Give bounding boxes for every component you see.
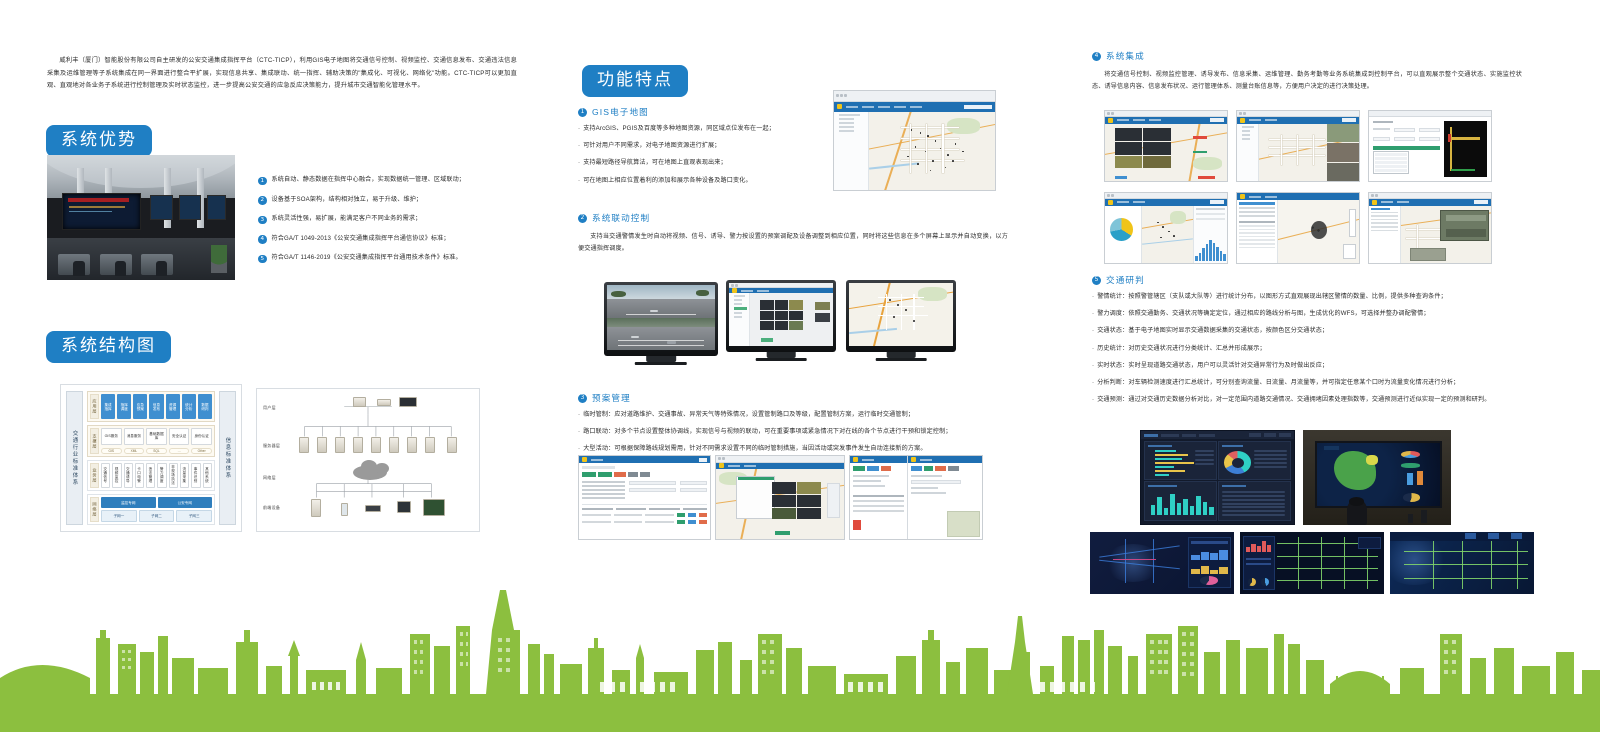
list-text: 符合GA/T 1146-2019《公安交通集成指挥平台通用技术条件》标准。 [272, 254, 462, 262]
feature-title: 系统集成 [1106, 50, 1145, 62]
architecture-layer-diagram: 交通行业标准体系 信息标准体系 应用层 集成指挥指挥调度 应急预案信息发布 资源… [60, 384, 242, 532]
feature-bullet: 分析判断：对车辆检测速度进行汇总统计，可分别查询流量、日流量、月流量等，并可指定… [1092, 379, 1522, 387]
list-number: 3 [258, 216, 267, 225]
feature-number: 1 [578, 108, 587, 117]
list-item: 2 设备基于SOA架构，结构相对独立，易于升级、维护； [258, 196, 520, 205]
dashboard-statistics [1140, 430, 1295, 525]
city-skyline-footer [0, 582, 1600, 732]
section-heading-feature: 功能特点 [583, 66, 687, 96]
monitor-camera-views [604, 282, 718, 356]
screenshot-plan-config [849, 455, 983, 540]
system-advantage-list: 1 系统自动、静态数据在指挥中心融合，实现数据统一管理、区域联动； 2 设备基于… [258, 176, 520, 274]
section-heading-system-architecture: 系统结构图 [47, 332, 170, 362]
feature-bullet: 可在地图上相应位置着利的添加和展示各种设备及路口变化。 [578, 177, 828, 185]
intro-paragraph: 威利丰（厦门）智能股份有限公司自主研发的公安交通集成指挥平台（CTC-TICP）… [47, 55, 517, 93]
feature-title: 交通研判 [1106, 274, 1145, 286]
feature-bullet: 实时状态：实时呈现道路交通状态，用户可以灵活针对交通异常行为及时做出反应； [1092, 362, 1522, 370]
feature-bullet: 警力调度：依照交通勤务、交通状况等确定定位，通过相应的路线分析与图，生成优化的W… [1092, 310, 1522, 318]
feature-paragraph: 将交通信号控制、视频监控管理、诱导发布、信息采集、运维管理、勤务考勤等业务系统集… [1092, 69, 1522, 92]
screenshot-grid-5 [1236, 192, 1360, 264]
control-room-photo [47, 155, 235, 280]
feature-number: 2 [578, 214, 587, 223]
screenshot-grid-3 [1368, 110, 1492, 182]
list-number: 1 [258, 177, 267, 186]
feature-bullet: 历史统计：对历史交通状况进行分类统计、汇总并形成展示； [1092, 345, 1522, 353]
list-text: 符合GA/T 1049-2013《公安交通集成指挥平台通信协议》标准； [272, 235, 450, 243]
feature-section-gis: 1 GIS电子地图 支持ArcGIS、PGIS及百度等多种地图资源，同区域点位发… [578, 106, 828, 194]
feature-bullet: 交通状态：基于电子地图实时显示交通数据采集的交通状态，按颜色区分交通状态； [1092, 327, 1522, 335]
screenshot-grid-1 [1104, 110, 1228, 182]
list-number: 2 [258, 196, 267, 205]
screenshot-plan-list [578, 455, 711, 540]
feature-bullet: 交通预测：通过对交通历史数据分析对比，对一定范围内道路交通情况、交通拥堵因素处理… [1092, 396, 1522, 404]
feature-bullet: 路口联动：对多个节点设置整体协调线，实现信号与视频的联动，可在重要事项或紧急情况… [578, 428, 1008, 436]
list-number: 4 [258, 235, 267, 244]
list-item: 4 符合GA/T 1049-2013《公安交通集成指挥平台通信协议》标准； [258, 235, 520, 244]
architecture-topology-diagram: 用户层 服务器层 网络层 前端设备 [256, 388, 480, 532]
feature-bullet: 可针对用户不同需求，对电子地图资源进行扩展； [578, 142, 828, 150]
nightmap-panel-3 [1390, 532, 1534, 594]
arch-row-application: 应用层 集成指挥指挥调度 应急预案信息发布 资源管理统计分析 数据研判 [87, 391, 215, 422]
feature-number: 5 [1092, 276, 1101, 285]
section-heading-system-advantage: 系统优势 [47, 126, 151, 156]
photo-command-center-wall [1303, 430, 1451, 525]
screenshot-gis-map [833, 90, 996, 191]
feature-title: 预案管理 [592, 392, 631, 404]
arch-left-band: 交通行业标准体系 [66, 391, 83, 525]
screenshot-grid-2 [1236, 110, 1360, 182]
feature-bullet: 支持ArcGIS、PGIS及百度等多种地图资源，同区域点位发布在一起； [578, 125, 828, 133]
screenshot-grid-4 [1104, 192, 1228, 264]
screenshot-plan-map-wall [715, 455, 845, 540]
feature-bullet: 临时管制：应对道路维护、交通事故、异常天气等特殊情况，设置管制路口及等级，配置管… [578, 411, 1008, 419]
topology-label-device-layer: 前端设备 [263, 505, 280, 511]
feature-section-system-integration: 4 系统集成 将交通信号控制、视频监控管理、诱导发布、信息采集、运维管理、勤务考… [1092, 50, 1522, 92]
feature-paragraph: 支持当交通警情发生时自动将视频、信号、诱导、警力按设置的预案调配及设备调整到相应… [578, 231, 1008, 254]
feature-title: GIS电子地图 [592, 106, 649, 118]
feature-number: 4 [1092, 52, 1101, 61]
list-item: 5 符合GA/T 1146-2019《公安交通集成指挥平台通用技术条件》标准。 [258, 254, 520, 263]
topology-label-server-layer: 服务器层 [263, 443, 280, 449]
list-item: 1 系统自动、静态数据在指挥中心融合，实现数据统一管理、区域联动； [258, 176, 520, 185]
list-text: 系统自动、静态数据在指挥中心融合，实现数据统一管理、区域联动； [272, 176, 466, 184]
list-text: 系统灵活性强，易扩展，能满足客户不同业务的需求； [272, 215, 422, 223]
list-item: 3 系统灵活性强，易扩展，能满足客户不同业务的需求； [258, 215, 520, 224]
feature-section-traffic-analysis: 5 交通研判 警情统计：按照警管辖区（支队或大队等）进行统计分布，以图形方式直观… [1092, 274, 1522, 414]
topology-label-user-layer: 用户层 [263, 405, 276, 411]
monitor-video-wall-control [726, 280, 836, 352]
arch-row-network: 网络层 监控专网公安专网 子网一子网二子网三 [87, 494, 215, 525]
topology-label-network-layer: 网络层 [263, 475, 276, 481]
arch-row-service: 业务层 交通信号视频监控 交通诱导卡口电警 违法管理警力调度 非现场执法流量采集… [87, 460, 215, 491]
feature-title: 系统联动控制 [592, 212, 650, 224]
feature-section-plan-management: 3 预案管理 临时管制：应对道路维护、交通事故、异常天气等特殊情况，设置管制路口… [578, 392, 1008, 463]
feature-bullet: 大型活动：可根据保障路线规划需用，针对不同需求设置不同的临时管制措施，当因活动或… [578, 445, 1008, 453]
list-text: 设备基于SOA架构，结构相对独立，易于升级、维护； [272, 196, 423, 204]
feature-bullet: 支持最短路径导航算法，可在地图上直观表现出来； [578, 159, 828, 167]
nightmap-panel-2 [1240, 532, 1384, 594]
feature-bullet: 警情统计：按照警管辖区（支队或大队等）进行统计分布，以图形方式直观展现出辖区警情… [1092, 293, 1522, 301]
monitor-gis-overview [846, 280, 956, 352]
nightmap-panel-1 [1090, 532, 1234, 594]
screenshot-grid-6 [1368, 192, 1492, 264]
arch-row-support: 支撑层 GIS服务消息服务 基础数据库安全认证 身份认证 GISXMLSQL…O… [87, 425, 215, 456]
feature-number: 3 [578, 394, 587, 403]
arch-right-band: 信息标准体系 [219, 391, 236, 525]
feature-section-linkage: 2 系统联动控制 支持当交通警情发生时自动将视频、信号、诱导、警力按设置的预案调… [578, 212, 1008, 254]
list-number: 5 [258, 255, 267, 264]
